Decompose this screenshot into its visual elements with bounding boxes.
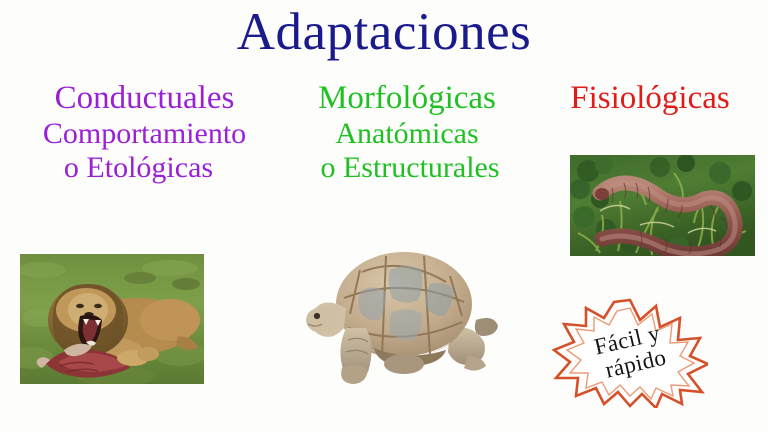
earthworm-photo (570, 155, 755, 256)
page-title: Adaptaciones (0, 2, 768, 62)
category-subline-etologicas: o Etológicas (2, 151, 287, 185)
category-subline-anatomicas: Anatómicas (276, 117, 538, 151)
category-heading-morfologicas: Morfológicas (276, 80, 538, 117)
lion-photo (20, 254, 204, 384)
category-heading-fisiologicas: Fisiológicas (532, 80, 768, 117)
tortoise-photo (300, 236, 508, 396)
lion-photo-graphic (20, 254, 204, 384)
status-badge: Fácil y rápido (552, 296, 708, 408)
category-heading-conductuales: Conductuales (2, 80, 287, 117)
category-column-morfologicas: Morfológicas Anatómicas o Estructurales (276, 80, 538, 185)
category-subline-estructurales: o Estructurales (276, 151, 538, 185)
category-subline-comportamiento: Comportamiento (2, 117, 287, 151)
category-column-fisiologicas: Fisiológicas (532, 80, 768, 117)
tortoise-photo-graphic (300, 236, 508, 396)
earthworm-photo-graphic (570, 155, 755, 256)
category-column-conductuales: Conductuales Comportamiento o Etológicas (2, 80, 287, 185)
slide-canvas: Adaptaciones Conductuales Comportamiento… (0, 0, 768, 432)
